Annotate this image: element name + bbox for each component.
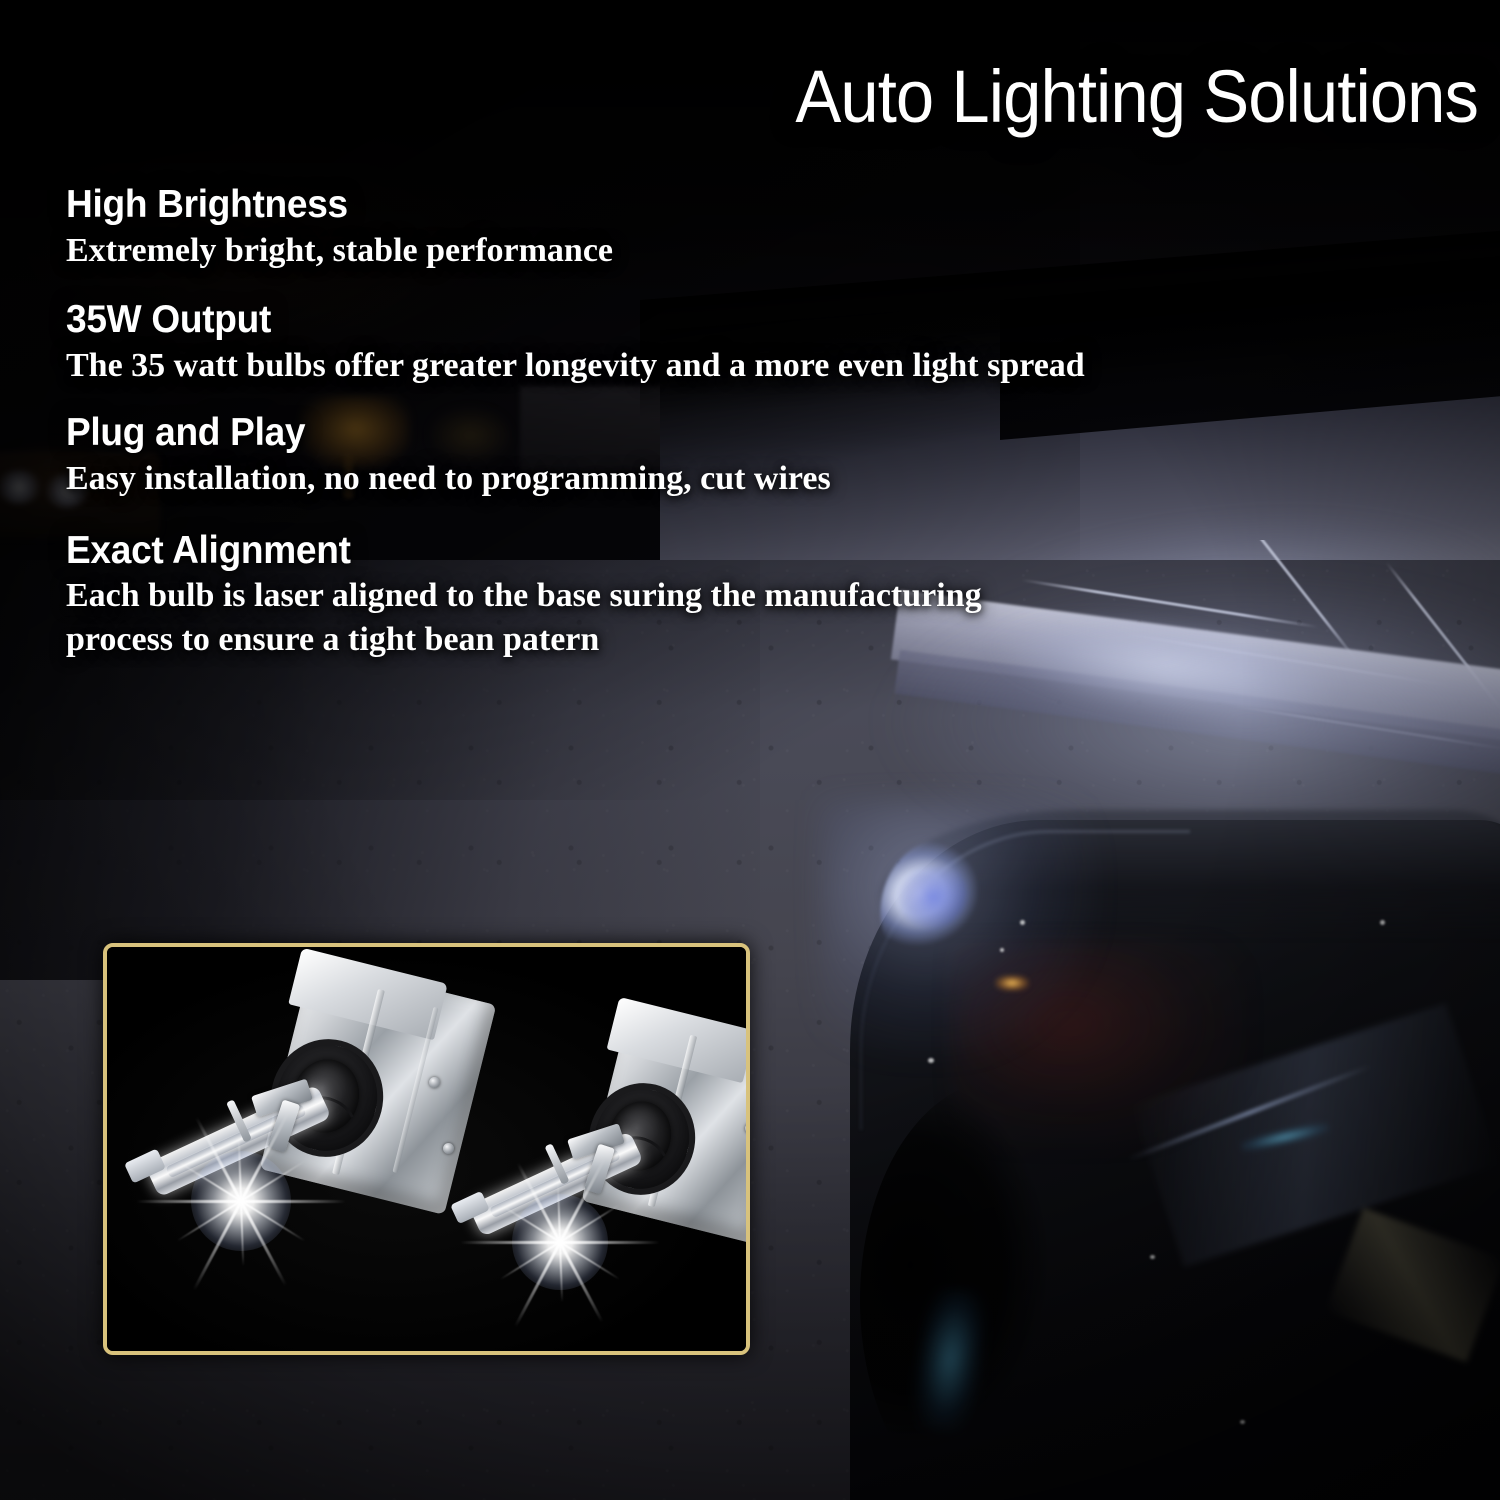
bulb-shield-screw [745, 1123, 750, 1134]
feature-body: Easy installation, no need to programmin… [66, 457, 1086, 501]
feature-body: Extremely bright, stable performance [66, 229, 1086, 273]
car-specular-dot [1020, 920, 1025, 925]
car-specular-dot [928, 1058, 934, 1063]
feature-item-plug-and-play: Plug and Play Easy installation, no need… [66, 411, 1086, 500]
feature-item-high-brightness: High Brightness Extremely bright, stable… [66, 183, 1086, 272]
feature-body: The 35 watt bulbs offer greater longevit… [66, 344, 1086, 388]
car-specular-dot [1380, 920, 1385, 925]
feature-heading: Exact Alignment [66, 529, 1035, 573]
product-marketing-image: Auto Lighting Solutions High Brightness … [0, 0, 1500, 1500]
car-specular-dot [1240, 1420, 1245, 1424]
feature-item-35w-output: 35W Output The 35 watt bulbs offer great… [66, 298, 1086, 387]
feature-item-exact-alignment: Exact Alignment Each bulb is laser align… [66, 529, 1086, 662]
bulb-light-flare-right [455, 1137, 665, 1347]
car-amber-reflection [995, 975, 1029, 991]
car-wheel-arch [860, 1080, 1140, 1500]
car-specular-dot [1150, 1255, 1155, 1259]
product-inset-frame [103, 943, 750, 1355]
page-title: Auto Lighting Solutions [795, 58, 1478, 136]
feature-heading: 35W Output [66, 298, 1035, 342]
feature-list: High Brightness Extremely bright, stable… [66, 183, 1086, 683]
bulb-light-flare-left [131, 1091, 351, 1311]
feature-heading: Plug and Play [66, 411, 1035, 455]
car-front-corner [820, 800, 1500, 1500]
feature-body: Each bulb is laser aligned to the base s… [66, 574, 1086, 661]
hid-bulb-right [427, 997, 750, 1355]
feature-heading: High Brightness [66, 183, 1035, 227]
car-specular-dot [1000, 948, 1004, 952]
